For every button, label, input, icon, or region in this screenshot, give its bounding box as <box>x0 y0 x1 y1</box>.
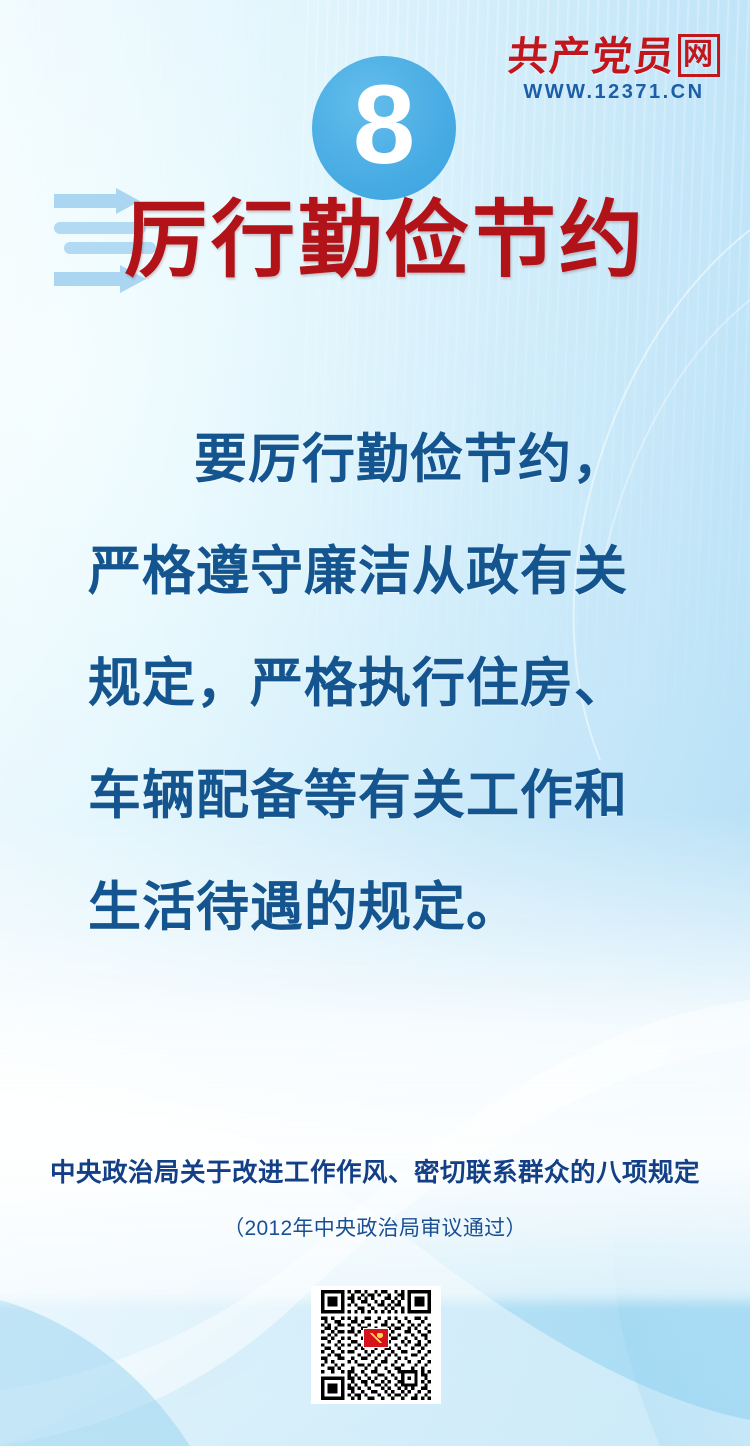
body-line-3: 规定，严格执行住房、 <box>88 628 664 740</box>
number-badge-value: 8 <box>353 69 415 181</box>
site-logo[interactable]: 共产党员网 WWW.12371.CN <box>502 34 726 104</box>
page-title: 厉行勤俭节约 <box>124 198 646 282</box>
body-line-1: 要厉行勤俭节约， <box>88 404 664 516</box>
footer-subtitle: （2012年中央政治局审议通过） <box>0 1212 750 1242</box>
body-text: 要厉行勤俭节约， 严格遵守廉洁从政有关 规定，严格执行住房、 车辆配备等有关工作… <box>88 404 664 964</box>
party-emblem-icon <box>363 1328 389 1348</box>
logo-brand-text: 共产党员 <box>506 34 679 79</box>
body-line-4: 车辆配备等有关工作和 <box>88 740 664 852</box>
body-line-2: 严格遵守廉洁从政有关 <box>88 516 664 628</box>
number-badge: 8 <box>312 56 456 200</box>
hammer-sickle-glyph <box>369 1333 383 1343</box>
logo-boxed-char: 网 <box>678 34 720 77</box>
body-line-5: 生活待遇的规定。 <box>88 852 664 964</box>
logo-url: WWW.12371.CN <box>502 81 726 104</box>
qr-code[interactable] <box>311 1286 441 1404</box>
footer-title: 中央政治局关于改进工作作风、密切联系群众的八项规定 <box>0 1152 750 1189</box>
logo-wordmark: 共产党员网 <box>500 34 729 78</box>
poster-canvas: 共产党员网 WWW.12371.CN 8 厉行勤俭节约 要厉行勤俭节约， 严格遵… <box>0 0 750 1446</box>
